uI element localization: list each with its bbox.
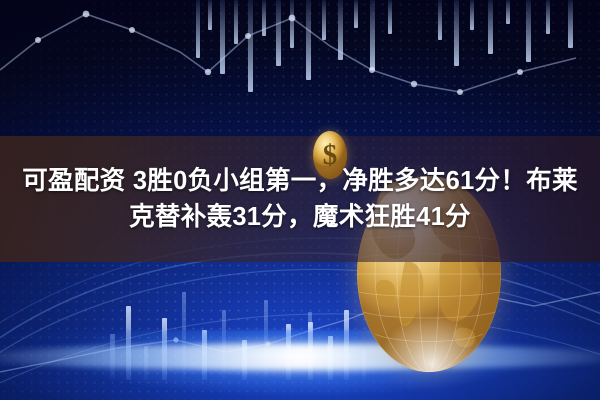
horizon-sheen: [0, 344, 600, 370]
news-banner-image: $: [0, 0, 600, 400]
caption-line-1: 可盈配资 3胜0负小组第一，净胜多达61分！布莱: [22, 166, 578, 196]
caption-text-block: 可盈配资 3胜0负小组第一，净胜多达61分！布莱 克替补轰31分，魔术狂胜41分: [0, 136, 600, 262]
caption-line-2: 克替补轰31分，魔术狂胜41分: [129, 202, 471, 232]
